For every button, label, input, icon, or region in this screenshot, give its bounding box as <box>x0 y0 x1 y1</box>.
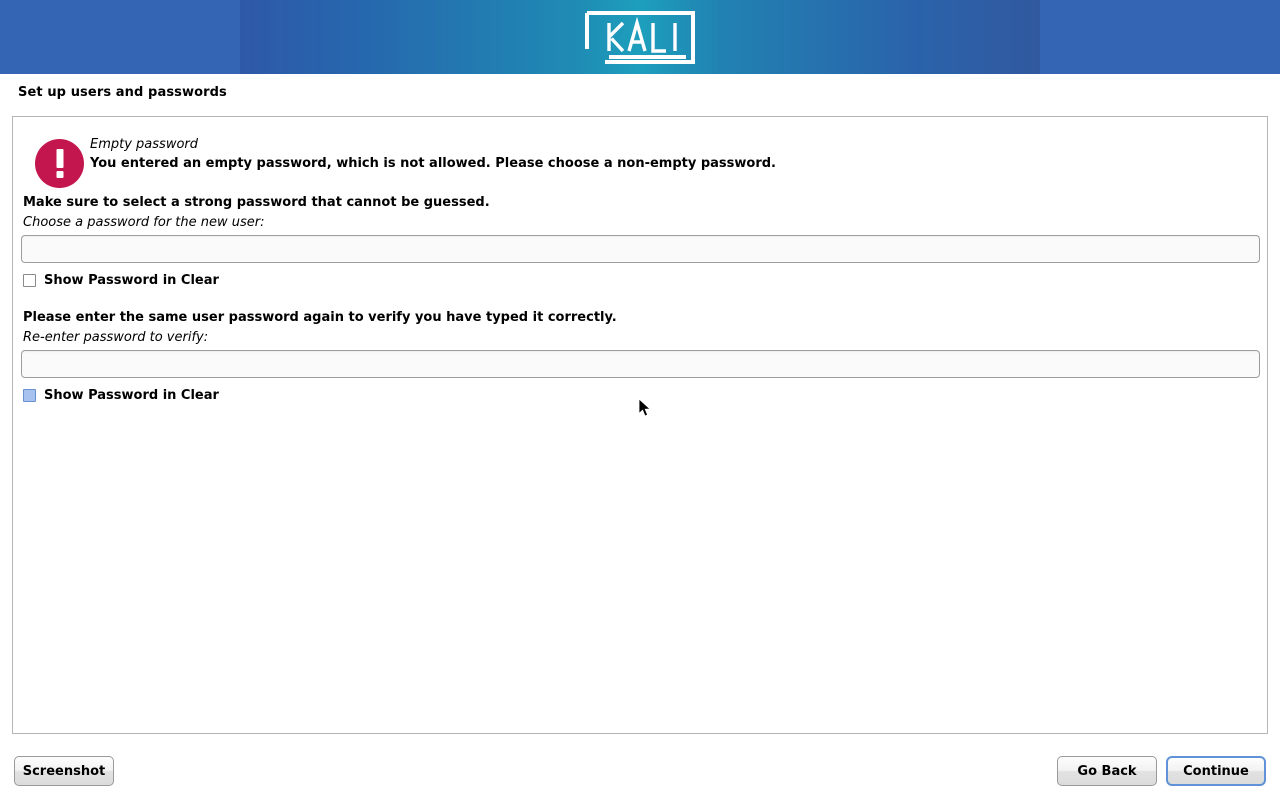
password-strength-hint: Make sure to select a strong password th… <box>23 195 490 210</box>
continue-button[interactable]: Continue <box>1166 756 1266 786</box>
error-message: You entered an empty password, which is … <box>90 156 776 171</box>
show-password-checkbox-label-2: Show Password in Clear <box>44 388 219 403</box>
installer-screen: Set up users and passwords Empty passwor… <box>0 0 1280 800</box>
show-password-checkbox-2[interactable] <box>23 389 36 402</box>
password-input[interactable] <box>21 235 1260 263</box>
show-password-checkbox-1[interactable] <box>23 274 36 287</box>
error-title: Empty password <box>90 137 198 152</box>
verify-password-hint: Please enter the same user password agai… <box>23 310 617 325</box>
page-title: Set up users and passwords <box>18 85 227 100</box>
main-content-panel: Empty password You entered an empty pass… <box>12 116 1268 734</box>
show-password-checkbox-row-1[interactable]: Show Password in Clear <box>23 273 219 288</box>
error-exclamation-icon <box>35 139 84 188</box>
kali-logo <box>583 9 697 66</box>
screenshot-button[interactable]: Screenshot <box>14 756 114 786</box>
kali-header-banner <box>0 0 1280 74</box>
password-field-label: Choose a password for the new user: <box>23 215 265 230</box>
show-password-checkbox-label-1: Show Password in Clear <box>44 273 219 288</box>
verify-field-label: Re-enter password to verify: <box>23 330 208 345</box>
verify-password-input[interactable] <box>21 350 1260 378</box>
go-back-button[interactable]: Go Back <box>1057 756 1157 786</box>
exclamation-dot <box>56 171 63 178</box>
exclamation-bar <box>56 149 63 168</box>
show-password-checkbox-row-2[interactable]: Show Password in Clear <box>23 388 219 403</box>
